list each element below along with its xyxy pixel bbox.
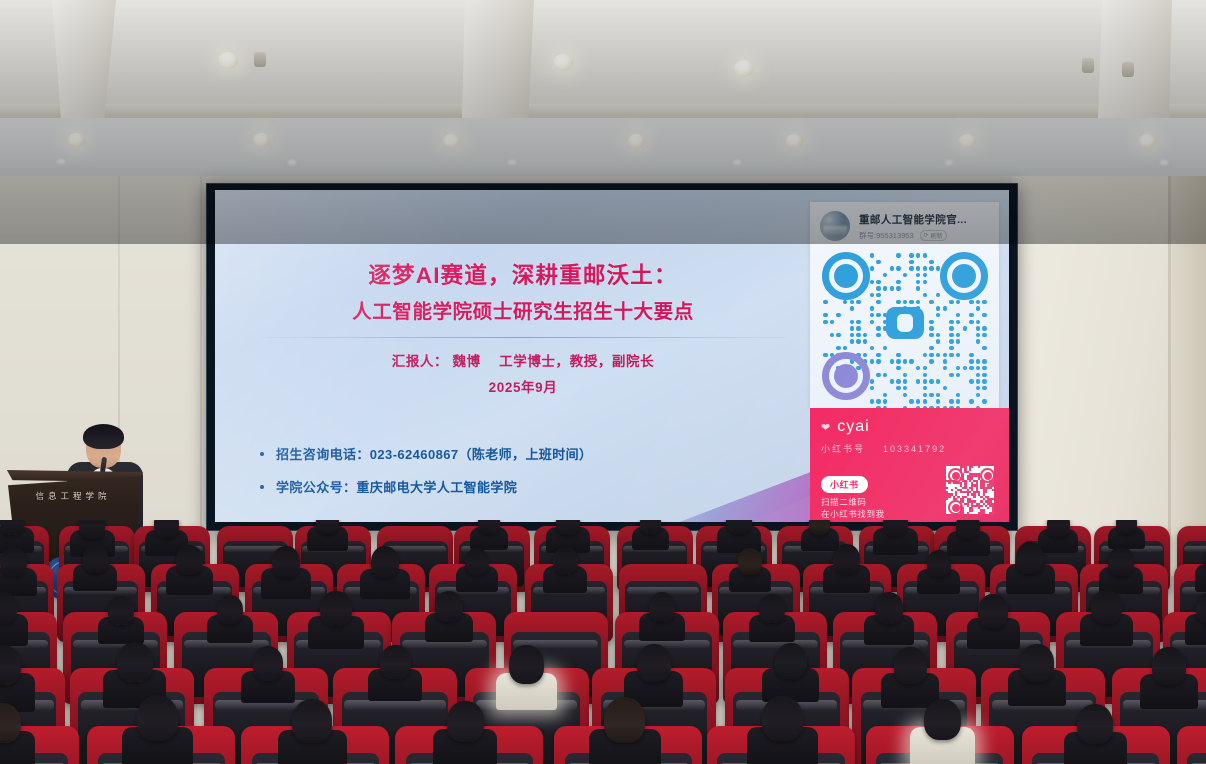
qr-module bbox=[982, 346, 986, 350]
qr-module bbox=[980, 505, 982, 507]
qq-qr-code bbox=[822, 252, 988, 400]
qr-module bbox=[976, 373, 980, 377]
bullet-text: 招生咨询电话：023-62460867（陈老师，上班时间） bbox=[276, 444, 592, 463]
xhs-scan-hint: 扫描二维码 在小红书找到我 bbox=[821, 496, 885, 521]
qr-module bbox=[923, 293, 927, 297]
qr-module bbox=[978, 466, 980, 468]
qr-module bbox=[916, 366, 920, 370]
qr-module bbox=[956, 373, 960, 377]
qr-module bbox=[976, 320, 980, 324]
qr-module bbox=[976, 333, 980, 337]
qr-module bbox=[876, 300, 880, 304]
qr-module bbox=[909, 359, 913, 363]
light-reflection bbox=[508, 160, 516, 165]
qr-module bbox=[992, 498, 994, 500]
qr-module bbox=[923, 273, 927, 277]
qr-module bbox=[890, 266, 894, 270]
qr-module bbox=[896, 366, 900, 370]
qr-module bbox=[982, 333, 986, 337]
qr-module bbox=[850, 300, 854, 304]
qr-module bbox=[969, 468, 971, 470]
qr-module bbox=[962, 512, 964, 514]
audience-member-head bbox=[380, 645, 411, 679]
qr-module bbox=[929, 379, 933, 383]
bullet-dot-icon bbox=[260, 485, 264, 489]
xhs-card-header: ❤ cyai bbox=[810, 408, 1009, 436]
qr-module bbox=[976, 306, 980, 310]
ceiling-light bbox=[786, 134, 803, 148]
qr-module bbox=[876, 333, 880, 337]
audience-member-head bbox=[1152, 647, 1185, 684]
qr-module bbox=[982, 300, 986, 304]
qr-module bbox=[903, 373, 907, 377]
qr-module bbox=[843, 300, 847, 304]
qr-module bbox=[916, 399, 920, 403]
qr-module bbox=[870, 253, 874, 257]
qr-module bbox=[916, 379, 920, 383]
qr-module bbox=[943, 306, 947, 310]
qr-module bbox=[903, 393, 907, 397]
audience-member-head bbox=[1016, 542, 1044, 574]
qr-finder-pattern bbox=[948, 500, 963, 514]
qr-module bbox=[929, 326, 933, 330]
qq-group-qr-card: 重邮人工智能学院官... 群号:955313953 ⟳ 刷新 bbox=[810, 202, 999, 408]
xhs-id-label: 小红书号 bbox=[821, 444, 865, 454]
qr-module bbox=[949, 333, 953, 337]
audience-member-head bbox=[176, 545, 203, 575]
qr-module bbox=[982, 379, 986, 383]
light-reflection bbox=[1160, 160, 1168, 165]
audience-member-head bbox=[217, 595, 243, 624]
slide-title-line-2: 人工智能学院硕士研究生招生十大要点 bbox=[253, 295, 793, 324]
qr-module bbox=[903, 359, 907, 363]
ceiling-sensor bbox=[1082, 58, 1094, 73]
slide-presenter: 汇报人： 魏博 工学博士，教授，副院长 bbox=[253, 350, 793, 370]
qr-module bbox=[876, 326, 880, 330]
audience-member-head bbox=[894, 647, 927, 684]
qr-module bbox=[850, 306, 854, 310]
qr-module bbox=[983, 512, 985, 514]
qr-module bbox=[982, 313, 986, 317]
ceiling-light bbox=[68, 133, 85, 147]
audience-member-head bbox=[253, 646, 284, 680]
qr-module bbox=[876, 359, 880, 363]
ceiling-beam bbox=[462, 0, 534, 118]
audience-member-head bbox=[478, 520, 500, 534]
qr-module bbox=[982, 373, 986, 377]
qr-module bbox=[946, 487, 948, 489]
qr-module bbox=[943, 366, 947, 370]
audience-seating bbox=[0, 520, 1206, 764]
light-reflection bbox=[733, 160, 741, 165]
ceiling-light bbox=[253, 133, 270, 147]
qr-module bbox=[969, 379, 973, 383]
qr-module bbox=[982, 386, 986, 390]
qr-module bbox=[949, 326, 953, 330]
qr-module bbox=[929, 300, 933, 304]
qr-module bbox=[896, 353, 900, 357]
qr-module bbox=[876, 260, 880, 264]
qr-module bbox=[916, 280, 920, 284]
qr-module bbox=[896, 386, 900, 390]
qr-module bbox=[923, 366, 927, 370]
qr-module bbox=[876, 280, 880, 284]
qr-module bbox=[936, 339, 940, 343]
qq-group-name: 重邮人工智能学院官... bbox=[859, 212, 967, 227]
qr-module bbox=[936, 379, 940, 383]
qr-module bbox=[909, 399, 913, 403]
qr-module bbox=[976, 359, 980, 363]
qr-module bbox=[973, 496, 975, 498]
qr-module bbox=[823, 320, 827, 324]
qr-module bbox=[982, 359, 986, 363]
audience-member-head bbox=[649, 592, 675, 621]
qr-module bbox=[876, 286, 880, 290]
qr-module bbox=[976, 339, 980, 343]
qq-card-meta: 重邮人工智能学院官... 群号:955313953 ⟳ 刷新 bbox=[859, 212, 967, 241]
qr-module bbox=[923, 373, 927, 377]
qq-card-header: 重邮人工智能学院官... 群号:955313953 ⟳ 刷新 bbox=[810, 202, 999, 241]
qr-module bbox=[956, 393, 960, 397]
audience-member-head bbox=[79, 520, 105, 539]
ceiling-light bbox=[628, 134, 645, 148]
qr-module bbox=[943, 386, 947, 390]
qr-module bbox=[971, 466, 973, 468]
qr-module bbox=[903, 273, 907, 277]
qr-module bbox=[971, 509, 973, 511]
qr-module bbox=[929, 260, 933, 264]
audience-member-head bbox=[154, 520, 179, 538]
qr-module bbox=[890, 379, 894, 383]
qr-finder-pattern bbox=[822, 352, 870, 400]
qr-module bbox=[856, 326, 860, 330]
qr-module bbox=[823, 300, 827, 304]
qr-module bbox=[956, 399, 960, 403]
bullet-dot-icon bbox=[260, 452, 264, 456]
ceiling-light bbox=[1139, 134, 1156, 148]
list-item: 学院公众号：重庆邮电大学人工智能学院 bbox=[260, 477, 592, 496]
qr-module bbox=[870, 293, 874, 297]
qr-module bbox=[987, 507, 989, 509]
qr-module bbox=[896, 359, 900, 363]
light-reflection bbox=[57, 159, 65, 164]
qr-module bbox=[949, 346, 953, 350]
qr-module bbox=[923, 353, 927, 357]
qr-module bbox=[850, 326, 854, 330]
audience-member-head bbox=[775, 643, 807, 679]
wall-seam bbox=[200, 176, 202, 576]
bullet-text: 学院公众号：重庆邮电大学人工智能学院 bbox=[276, 477, 517, 496]
qr-module bbox=[969, 353, 973, 357]
audience-member-head bbox=[320, 591, 351, 626]
audience-member-head bbox=[738, 548, 762, 575]
qr-module bbox=[890, 359, 894, 363]
qr-module bbox=[949, 320, 953, 324]
qr-module bbox=[943, 353, 947, 357]
audience-member-head bbox=[292, 699, 331, 743]
qr-finder-pattern bbox=[822, 252, 870, 300]
qr-module bbox=[850, 320, 854, 324]
slide-title-line-1: 逐梦AI赛道，深耕重邮沃土： bbox=[253, 262, 793, 290]
qr-module bbox=[929, 320, 933, 324]
qr-module bbox=[850, 333, 854, 337]
qr-module bbox=[896, 266, 900, 270]
qq-group-number-row: 群号:955313953 ⟳ 刷新 bbox=[859, 230, 967, 241]
qr-module bbox=[823, 353, 827, 357]
projection-screen-bezel: 逐梦AI赛道，深耕重邮沃土： 人工智能学院硕士研究生招生十大要点 汇报人： 魏博… bbox=[206, 183, 1018, 531]
qr-module bbox=[856, 333, 860, 337]
ceiling-sensor bbox=[1122, 62, 1134, 77]
ceiling-light bbox=[734, 60, 754, 77]
qr-module bbox=[916, 253, 920, 257]
audience-member-head bbox=[762, 696, 802, 741]
qr-module bbox=[982, 399, 986, 403]
qr-module bbox=[949, 353, 953, 357]
ceiling-lower bbox=[0, 118, 1206, 180]
qr-module bbox=[929, 346, 933, 350]
qr-module bbox=[936, 333, 940, 337]
qr-module bbox=[951, 489, 953, 491]
qr-module bbox=[923, 379, 927, 383]
qr-module bbox=[870, 266, 874, 270]
qr-module bbox=[976, 393, 980, 397]
qr-module bbox=[976, 379, 980, 383]
audience-member-head bbox=[1047, 520, 1070, 537]
qr-module bbox=[929, 359, 933, 363]
qr-module bbox=[929, 353, 933, 357]
qr-module bbox=[876, 353, 880, 357]
audience-member-head bbox=[956, 520, 980, 539]
qq-group-avatar-icon bbox=[820, 211, 850, 241]
qr-module bbox=[956, 320, 960, 324]
audience-member-head bbox=[447, 701, 483, 742]
qr-module bbox=[963, 366, 967, 370]
title-divider bbox=[261, 337, 785, 338]
xhs-id-row: 小红书号 103341792 bbox=[810, 436, 1009, 455]
qr-module bbox=[903, 379, 907, 383]
qr-module bbox=[870, 306, 874, 310]
xhs-hint-line-2: 在小红书找到我 bbox=[821, 508, 885, 520]
qr-module bbox=[982, 326, 986, 330]
audience-member-head bbox=[1116, 520, 1137, 534]
qr-module bbox=[948, 496, 950, 498]
qr-module bbox=[976, 366, 980, 370]
audience-member-head bbox=[759, 594, 785, 623]
audience-member-head bbox=[117, 642, 153, 682]
qr-module bbox=[967, 512, 969, 514]
qr-module bbox=[909, 260, 913, 264]
qr-module bbox=[949, 339, 953, 343]
qr-module bbox=[992, 484, 994, 486]
qr-module bbox=[856, 339, 860, 343]
qr-module bbox=[870, 399, 874, 403]
qr-module bbox=[969, 320, 973, 324]
xiaohongshu-card: ❤ cyai 小红书号 103341792 小红书 扫描二维码 在小红书找到我 bbox=[810, 408, 1009, 522]
qr-module bbox=[949, 399, 953, 403]
qr-module bbox=[936, 353, 940, 357]
qr-finder-pattern bbox=[940, 252, 988, 300]
qr-module bbox=[883, 399, 887, 403]
qr-module bbox=[876, 293, 880, 297]
qr-module bbox=[883, 373, 887, 377]
xhs-handle: cyai bbox=[837, 418, 869, 436]
qr-module bbox=[948, 482, 950, 484]
qr-module bbox=[870, 386, 874, 390]
list-item: 招生咨询电话：023-62460867（陈老师，上班时间） bbox=[260, 444, 592, 463]
ceiling-sensor bbox=[254, 52, 266, 67]
qr-module bbox=[946, 498, 948, 500]
audience-member-head bbox=[465, 548, 489, 575]
qr-module bbox=[963, 326, 967, 330]
refresh-icon: ⟳ bbox=[924, 232, 929, 239]
qr-module bbox=[903, 300, 907, 304]
qr-module bbox=[830, 320, 834, 324]
audience-member-head bbox=[927, 550, 951, 577]
audience-member-head bbox=[1020, 644, 1053, 681]
audience-member-head bbox=[83, 545, 108, 573]
qr-finder-pattern bbox=[980, 468, 994, 483]
qr-module bbox=[956, 366, 960, 370]
audience-member-head bbox=[0, 547, 26, 577]
qr-module bbox=[923, 399, 927, 403]
qr-module bbox=[929, 393, 933, 397]
audience-member-head bbox=[875, 592, 904, 624]
qr-module bbox=[890, 286, 894, 290]
qr-module bbox=[956, 300, 960, 304]
qr-module bbox=[823, 313, 827, 317]
qr-module bbox=[836, 346, 840, 350]
qr-module bbox=[936, 399, 940, 403]
audience-member-head bbox=[553, 546, 578, 574]
qr-module bbox=[870, 280, 874, 284]
audience-member-head bbox=[833, 544, 860, 574]
qr-module bbox=[936, 306, 940, 310]
qr-module bbox=[936, 293, 940, 297]
qr-module bbox=[863, 339, 867, 343]
qr-module bbox=[850, 339, 854, 343]
qr-module bbox=[876, 373, 880, 377]
qr-module bbox=[936, 313, 940, 317]
qr-module bbox=[863, 333, 867, 337]
qr-center-logo-icon bbox=[886, 307, 924, 339]
qr-module bbox=[896, 379, 900, 383]
ceiling-light bbox=[218, 52, 238, 69]
qr-module bbox=[956, 339, 960, 343]
ceiling-upper bbox=[0, 0, 1206, 112]
qr-module bbox=[870, 346, 874, 350]
qr-module bbox=[883, 346, 887, 350]
qr-module bbox=[883, 273, 887, 277]
qr-module bbox=[976, 300, 980, 304]
qr-module bbox=[976, 386, 980, 390]
qr-module bbox=[923, 253, 927, 257]
qr-module bbox=[969, 313, 973, 317]
audience-member-head bbox=[435, 591, 463, 622]
qr-module bbox=[949, 300, 953, 304]
ceiling-light bbox=[553, 54, 573, 71]
qq-group-number: 群号:955313953 bbox=[859, 230, 914, 241]
qr-module bbox=[896, 280, 900, 284]
qr-module bbox=[992, 489, 994, 491]
qr-module bbox=[929, 333, 933, 337]
audience-member-torso bbox=[1195, 564, 1206, 591]
slide-date: 2025年9月 bbox=[253, 376, 793, 396]
slide-bullet-list: 招生咨询电话：023-62460867（陈老师，上班时间） 学院公众号：重庆邮电… bbox=[260, 444, 592, 510]
qr-finder-pattern bbox=[948, 468, 963, 483]
qr-module bbox=[843, 346, 847, 350]
light-reflection bbox=[945, 160, 953, 165]
qr-module bbox=[923, 280, 927, 284]
qr-module bbox=[856, 320, 860, 324]
qr-module bbox=[883, 393, 887, 397]
qr-module bbox=[969, 359, 973, 363]
speaker-hair bbox=[83, 424, 124, 449]
qr-module bbox=[923, 266, 927, 270]
slide-title-block: 逐梦AI赛道，深耕重邮沃土： 人工智能学院硕士研究生招生十大要点 汇报人： 魏博… bbox=[253, 262, 793, 396]
audience-member-head bbox=[272, 546, 301, 578]
xhs-logo-badge: 小红书 bbox=[821, 476, 868, 493]
ceiling-light bbox=[443, 134, 460, 148]
audience-member-head bbox=[604, 697, 645, 743]
qr-module bbox=[969, 399, 973, 403]
qr-module bbox=[929, 266, 933, 270]
audience-member-head bbox=[137, 695, 178, 741]
qr-module bbox=[870, 313, 874, 317]
refresh-icon-button[interactable]: ⟳ 刷新 bbox=[920, 230, 947, 241]
qr-module bbox=[943, 359, 947, 363]
ceiling-light bbox=[959, 134, 976, 148]
qr-module bbox=[992, 512, 994, 514]
qr-module bbox=[830, 333, 834, 337]
qr-module bbox=[916, 266, 920, 270]
podium-label: 信息工程学院 bbox=[14, 490, 132, 502]
audience-member-head bbox=[371, 546, 400, 578]
qr-module bbox=[863, 353, 867, 357]
light-reflection bbox=[288, 160, 296, 165]
qr-module bbox=[982, 366, 986, 370]
qr-module bbox=[870, 359, 874, 363]
qr-module bbox=[870, 379, 874, 383]
qr-module bbox=[836, 313, 840, 317]
qr-module bbox=[916, 300, 920, 304]
qr-module bbox=[896, 253, 900, 257]
qr-module bbox=[956, 353, 960, 357]
audience-member-head bbox=[108, 596, 134, 625]
audience-member-head bbox=[509, 645, 544, 684]
qr-module bbox=[985, 491, 987, 493]
projection-screen: 逐梦AI赛道，深耕重邮沃土： 人工智能学院硕士研究生招生十大要点 汇报人： 魏博… bbox=[215, 190, 1009, 522]
qr-module bbox=[923, 393, 927, 397]
audience-member-head bbox=[637, 644, 671, 682]
qr-module bbox=[836, 333, 840, 337]
lecture-hall-photo: 逐梦AI赛道，深耕重邮沃土： 人工智能学院硕士研究生招生十大要点 汇报人： 魏博… bbox=[0, 0, 1206, 764]
qr-module bbox=[956, 313, 960, 317]
qr-module bbox=[870, 320, 874, 324]
qr-module bbox=[896, 300, 900, 304]
qr-module bbox=[909, 300, 913, 304]
audience-member-head bbox=[1091, 590, 1121, 624]
qr-module bbox=[967, 493, 969, 495]
qr-module bbox=[909, 253, 913, 257]
xhs-id-value: 103341792 bbox=[883, 444, 946, 454]
ceiling-beam bbox=[1098, 0, 1172, 118]
qr-module bbox=[856, 300, 860, 304]
right-wall-return bbox=[1171, 176, 1206, 576]
qr-module bbox=[876, 399, 880, 403]
qr-module bbox=[876, 313, 880, 317]
qr-module bbox=[956, 333, 960, 337]
xiaohongshu-qr-code bbox=[946, 466, 994, 514]
